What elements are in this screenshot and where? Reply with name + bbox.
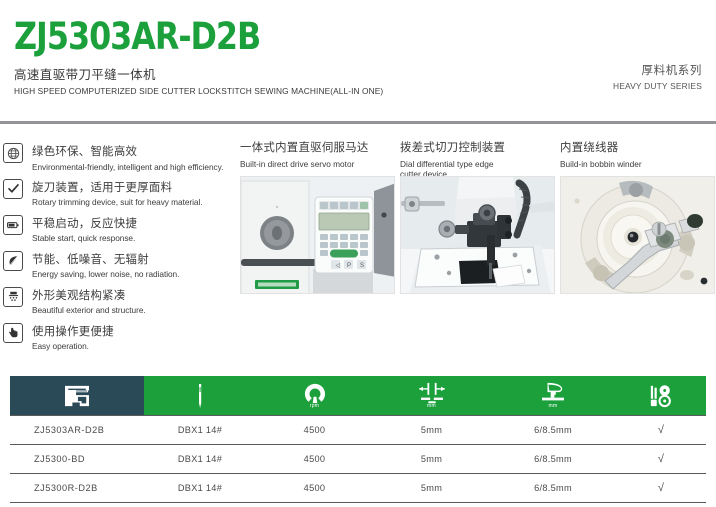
feature-label-chinese: 节能、低噪音、无辐射 [32, 254, 149, 266]
feature-label-english: Beautiful exterior and structure. [32, 306, 146, 316]
subtitle-english: HIGH SPEED COMPUTERIZED SIDE CUTTER LOCK… [14, 86, 681, 96]
cell-speed: 4500 [256, 425, 373, 435]
feature-label-chinese: 平稳启动，反应快捷 [32, 218, 137, 230]
cell-stitch-length: 5mm [373, 483, 490, 493]
feature-label-english: Rotary trimming device, suit for heavy m… [32, 198, 203, 208]
feature-label-chinese: 绿色环保、智能高效 [32, 146, 137, 158]
table-header-cell-speed: rpm [256, 376, 373, 415]
photo-card: 内置绕线器 Build-in bobbin winder [560, 142, 715, 358]
feature-text: 节能、低噪音、无辐射 Energy saving, lower noise, n… [23, 250, 179, 280]
table-header-cell-cutter [616, 376, 706, 415]
cell-needle: DBX1 14# [144, 454, 256, 464]
table-header-cell-needle [144, 376, 256, 415]
feature-text: 外形美观结构紧凑 Beautiful exterior and structur… [23, 286, 146, 316]
cell-stitch-length: 5mm [373, 454, 490, 464]
feature-label-chinese: 使用操作更便捷 [32, 326, 114, 338]
cell-cutter: √ [616, 424, 706, 436]
globe-icon [3, 143, 23, 163]
check-icon [3, 179, 23, 199]
page-title: ZJ5303AR-D2B [14, 18, 606, 57]
feature-label-english: Environmental-friendly, intelligent and … [32, 163, 223, 173]
feature-item: 外形美观结构紧凑 Beautiful exterior and structur… [3, 286, 240, 316]
subtitle-chinese: 高速直驱带刀平缝一体机 [14, 64, 702, 83]
series-label-english: HEAVY DUTY SERIES [613, 81, 702, 91]
feature-label-english: Stable start, quick response. [32, 234, 137, 244]
svg-text:S: S [360, 263, 364, 269]
feature-label-english: Energy saving, lower noise, no radiation… [32, 270, 179, 280]
presser-foot-lift-icon: mm [539, 382, 567, 409]
table-header-cell-stitch-length: mm [373, 376, 490, 415]
feature-item: 节能、低噪音、无辐射 Energy saving, lower noise, n… [3, 250, 240, 280]
cell-presser-lift: 6/8.5mm [490, 483, 616, 493]
speed-rpm-icon: rpm [304, 383, 326, 409]
feature-item: 旋刀装置，适用于更厚面料 Rotary trimming device, sui… [3, 178, 240, 208]
cell-model: ZJ5300R-D2B [10, 483, 144, 493]
bobbin-winder-photo [560, 176, 715, 294]
svg-text:◁: ◁ [336, 263, 341, 269]
photo-caption-english: Build-in bobbin winder [560, 159, 710, 169]
cell-model: ZJ5303AR-D2B [10, 425, 144, 435]
edge-cutter-photo [400, 176, 555, 294]
feature-item: 平稳启动，反应快捷 Stable start, quick response. [3, 214, 240, 244]
page-header: ZJ5303AR-D2B 高速直驱带刀平缝一体机 HIGH SPEED COMP… [0, 0, 716, 104]
stitch-unit-label: mm [427, 404, 436, 409]
cell-speed: 4500 [256, 454, 373, 464]
feature-text: 绿色环保、智能高效 Environmental-friendly, intell… [23, 142, 223, 172]
photo-caption-chinese: 一体式内置直驱伺服马达 [240, 142, 400, 156]
cell-speed: 4500 [256, 483, 373, 493]
svg-text:P: P [347, 263, 351, 269]
speed-unit-label: rpm [310, 404, 320, 409]
needle-icon [196, 383, 204, 409]
main-content: 绿色环保、智能高效 Environmental-friendly, intell… [0, 104, 716, 358]
table-header-cell-presser-lift: mm [490, 376, 616, 415]
edge-cutter-icon [649, 384, 673, 408]
feature-text: 旋刀装置，适用于更厚面料 Rotary trimming device, sui… [23, 178, 203, 208]
series-block: 厚料机系列 HEAVY DUTY SERIES [613, 62, 702, 91]
feature-item: 使用操作更便捷 Easy operation. [3, 322, 240, 352]
feature-text: 使用操作更便捷 Easy operation. [23, 322, 114, 352]
table-header-cell-model [10, 376, 144, 415]
spec-table: rpm mm [10, 376, 706, 503]
table-row: ZJ5300-BD DBX1 14# 4500 5mm 6/8.5mm √ [10, 445, 706, 474]
feature-label-chinese: 旋刀装置，适用于更厚面料 [32, 182, 172, 194]
cell-needle: DBX1 14# [144, 425, 256, 435]
cell-needle: DBX1 14# [144, 483, 256, 493]
photo-caption-chinese: 拨差式切刀控制装置 [400, 142, 560, 156]
photo-card: 一体式内置直驱伺服马达 Built-in direct drive servo … [240, 142, 400, 358]
feature-label-english: Easy operation. [32, 342, 114, 352]
table-row: ZJ5303AR-D2B DBX1 14# 4500 5mm 6/8.5mm √ [10, 415, 706, 445]
series-label-chinese: 厚料机系列 [613, 62, 702, 78]
photo-caption-english: Built-in direct drive servo motor [240, 159, 390, 169]
photo-card: 拨差式切刀控制装置 Dial differential type edge cu… [400, 142, 560, 358]
table-row: ZJ5300R-D2B DBX1 14# 4500 5mm 6/8.5mm √ [10, 474, 706, 503]
lift-unit-label: mm [549, 404, 558, 409]
sewing-machine-icon [64, 384, 90, 408]
cell-model: ZJ5300-BD [10, 454, 144, 464]
control-panel-photo: ◁ P S [240, 176, 395, 294]
leaf-icon [3, 251, 23, 271]
cell-cutter: √ [616, 482, 706, 494]
cell-cutter: √ [616, 453, 706, 465]
feature-item: 绿色环保、智能高效 Environmental-friendly, intell… [3, 142, 240, 172]
battery-icon [3, 215, 23, 235]
cell-stitch-length: 5mm [373, 425, 490, 435]
cell-presser-lift: 6/8.5mm [490, 454, 616, 464]
structure-icon [3, 287, 23, 307]
cell-presser-lift: 6/8.5mm [490, 425, 616, 435]
photo-gallery: 一体式内置直驱伺服马达 Built-in direct drive servo … [240, 142, 716, 358]
hand-icon [3, 323, 23, 343]
table-header-row: rpm mm [10, 376, 706, 415]
stitch-length-icon: mm [417, 382, 447, 409]
feature-label-chinese: 外形美观结构紧凑 [32, 290, 126, 302]
feature-text: 平稳启动，反应快捷 Stable start, quick response. [23, 214, 137, 244]
feature-list: 绿色环保、智能高效 Environmental-friendly, intell… [0, 142, 240, 358]
photo-caption-chinese: 内置绕线器 [560, 142, 715, 156]
